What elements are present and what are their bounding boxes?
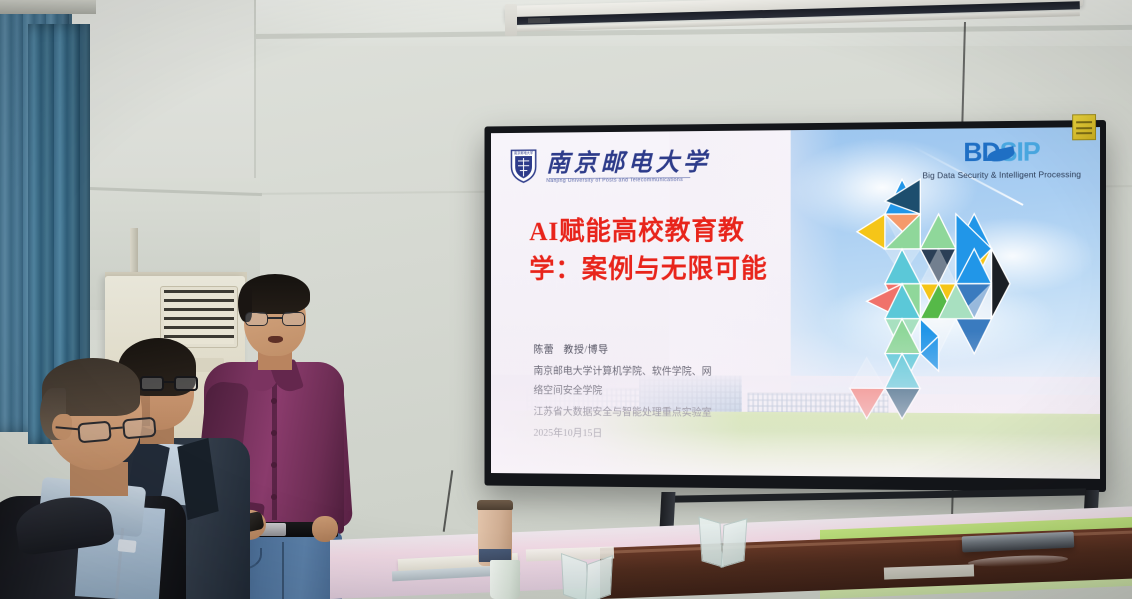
tv-inventory-sticker — [1072, 114, 1096, 140]
presentation-slide: 南京邮电大学 南京邮电大学 Nanjing University of Post… — [491, 127, 1100, 479]
affiliation-line-2: 络空间安全学院 — [533, 383, 773, 401]
university-logo: 南京邮电大学 南京邮电大学 Nanjing University of Post… — [510, 146, 711, 185]
attendee-front-person — [0, 358, 220, 599]
svg-text:南京邮电大学: 南京邮电大学 — [514, 151, 534, 156]
shirt-button — [271, 462, 277, 468]
name-card-holder[interactable] — [721, 518, 748, 568]
shirt-button — [271, 430, 277, 436]
attendee-badge — [117, 539, 136, 553]
tv-screen: 南京邮电大学 南京邮电大学 Nanjing University of Post… — [491, 127, 1100, 479]
lab-logo-b: B — [963, 137, 981, 167]
university-name-cn: 南京邮电大学 — [546, 151, 710, 177]
name-card-holder[interactable] — [698, 516, 723, 567]
slide-title: AI赋能高校教育教学：案例与无限可能 — [529, 211, 781, 289]
presenter-line: 陈蕾教授/博导 — [533, 342, 773, 359]
curtain-rod — [0, 0, 96, 14]
paper-cup[interactable] — [490, 560, 520, 599]
presenter-rank: 教授/博导 — [564, 345, 609, 356]
projection-screen-bracket — [505, 4, 517, 36]
presenter-mouth — [268, 336, 283, 343]
presenter-name: 陈蕾 — [533, 345, 554, 356]
slide-date: 2025年10月15日 — [533, 425, 773, 443]
tv-bezel: 南京邮电大学 南京邮电大学 Nanjing University of Post… — [484, 120, 1106, 492]
affiliation-line-1: 南京邮电大学计算机学院、软件学院、网 — [533, 364, 773, 381]
geometric-diamond-graphic — [790, 170, 1062, 423]
thermos-lid[interactable] — [477, 500, 513, 510]
shirt-button — [271, 398, 277, 404]
jeans-seam — [282, 542, 284, 599]
photo-scene: 南京邮电大学 南京邮电大学 Nanjing University of Post… — [0, 0, 1132, 599]
lab-logo-mark: BDSIP — [963, 139, 1039, 167]
presenter-glasses-icon — [245, 312, 305, 327]
projection-screen-label — [528, 18, 550, 24]
shirt-button — [271, 494, 277, 500]
university-shield-icon: 南京邮电大学 — [510, 148, 538, 185]
presenter-other-hand — [312, 516, 338, 542]
lab-line: 江苏省大数据安全与智能处理重点实验室 — [533, 404, 773, 422]
slide-subtitle-block: 陈蕾教授/博导 南京邮电大学计算机学院、软件学院、网 络空间安全学院 江苏省大数… — [533, 342, 773, 448]
television-display[interactable]: 南京邮电大学 南京邮电大学 Nanjing University of Post… — [484, 120, 1106, 492]
